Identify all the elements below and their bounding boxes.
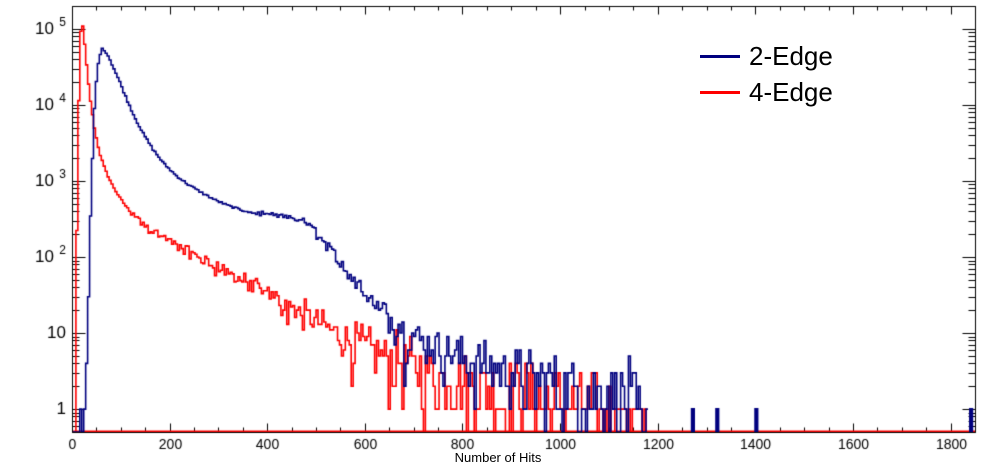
histogram-figure: Number of Hits 2-Edge 4-Edge	[0, 0, 996, 472]
x-axis-title: Number of Hits	[0, 450, 996, 465]
legend-swatch-2-edge	[700, 55, 740, 58]
legend-entry-4-edge: 4-Edge	[700, 74, 900, 110]
legend-swatch-4-edge	[700, 91, 740, 94]
legend: 2-Edge 4-Edge	[700, 38, 900, 110]
legend-entry-2-edge: 2-Edge	[700, 38, 900, 74]
legend-label-4-edge: 4-Edge	[749, 79, 833, 105]
legend-label-2-edge: 2-Edge	[749, 43, 833, 69]
